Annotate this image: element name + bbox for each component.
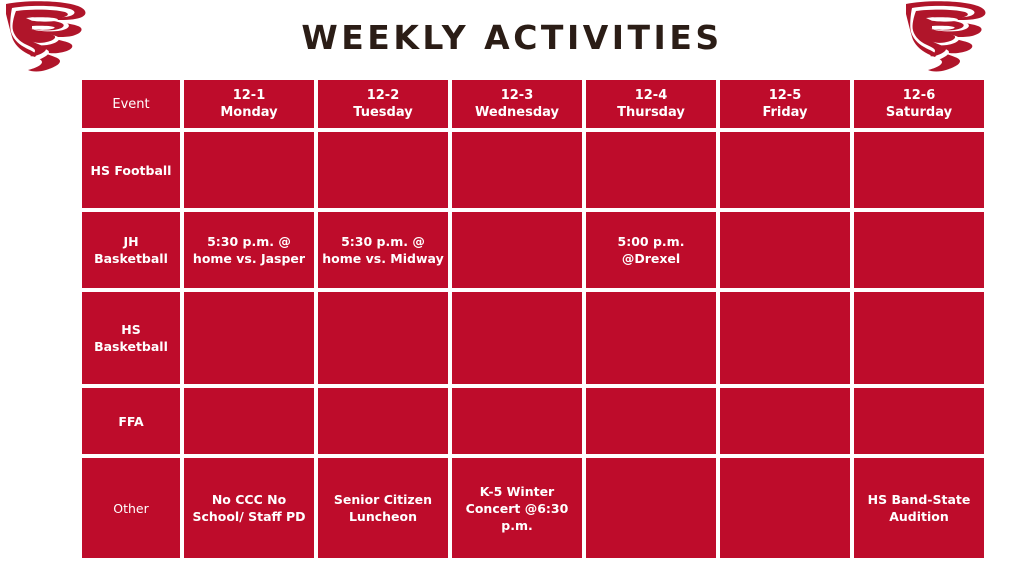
cell-hs-basketball-monday xyxy=(184,292,314,384)
cell-hs-football-tuesday xyxy=(318,132,448,208)
cell-jh-basketball-friday xyxy=(720,212,850,288)
cell-hs-basketball-tuesday xyxy=(318,292,448,384)
cell-hs-basketball-wednesday xyxy=(452,292,582,384)
page-header: WEEKLY ACTIVITIES xyxy=(0,0,1024,74)
cell-other-wednesday: K-5 Winter Concert @6:30 p.m. xyxy=(452,458,582,558)
column-header-saturday-date: 12-6 xyxy=(858,87,980,104)
cell-other-friday xyxy=(720,458,850,558)
column-header-saturday-day: Saturday xyxy=(858,104,980,121)
row-label-hs-basketball: HS Basketball xyxy=(82,292,180,384)
row-label-hs-football: HS Football xyxy=(82,132,180,208)
tornado-mascot-logo xyxy=(900,0,992,74)
column-header-friday-day: Friday xyxy=(724,104,846,121)
cell-jh-basketball-wednesday xyxy=(452,212,582,288)
cell-hs-football-monday xyxy=(184,132,314,208)
column-header-saturday: 12-6 Saturday xyxy=(854,80,984,128)
column-header-thursday-day: Thursday xyxy=(590,104,712,121)
table-row: FFA xyxy=(82,388,984,454)
column-header-event-label: Event xyxy=(112,97,149,112)
weekly-activities-table: Event 12-1 Monday 12-2 Tuesday 12-3 Wedn… xyxy=(78,76,988,562)
column-header-wednesday-day: Wednesday xyxy=(456,104,578,121)
cell-other-tuesday: Senior Citizen Luncheon xyxy=(318,458,448,558)
column-header-friday-date: 12-5 xyxy=(724,87,846,104)
column-header-tuesday: 12-2 Tuesday xyxy=(318,80,448,128)
cell-hs-football-thursday xyxy=(586,132,716,208)
column-header-wednesday: 12-3 Wednesday xyxy=(452,80,582,128)
column-header-friday: 12-5 Friday xyxy=(720,80,850,128)
column-header-tuesday-date: 12-2 xyxy=(322,87,444,104)
column-header-monday-date: 12-1 xyxy=(188,87,310,104)
cell-ffa-monday xyxy=(184,388,314,454)
page-title: WEEKLY ACTIVITIES xyxy=(0,18,1024,58)
column-header-wednesday-date: 12-3 xyxy=(456,87,578,104)
cell-ffa-saturday xyxy=(854,388,984,454)
cell-other-saturday: HS Band-State Audition xyxy=(854,458,984,558)
cell-other-thursday xyxy=(586,458,716,558)
cell-jh-basketball-monday: 5:30 p.m. @ home vs. Jasper xyxy=(184,212,314,288)
table-row: HS Football xyxy=(82,132,984,208)
row-label-other: Other xyxy=(82,458,180,558)
column-header-monday: 12-1 Monday xyxy=(184,80,314,128)
cell-ffa-thursday xyxy=(586,388,716,454)
table-row: JH Basketball 5:30 p.m. @ home vs. Jaspe… xyxy=(82,212,984,288)
row-label-ffa: FFA xyxy=(82,388,180,454)
cell-jh-basketball-thursday: 5:00 p.m. @Drexel xyxy=(586,212,716,288)
table-header-row: Event 12-1 Monday 12-2 Tuesday 12-3 Wedn… xyxy=(82,80,984,128)
column-header-thursday-date: 12-4 xyxy=(590,87,712,104)
cell-hs-football-saturday xyxy=(854,132,984,208)
cell-other-monday: No CCC No School/ Staff PD xyxy=(184,458,314,558)
cell-jh-basketball-tuesday: 5:30 p.m. @ home vs. Midway xyxy=(318,212,448,288)
cell-jh-basketball-saturday xyxy=(854,212,984,288)
cell-ffa-friday xyxy=(720,388,850,454)
row-label-jh-basketball: JH Basketball xyxy=(82,212,180,288)
cell-hs-basketball-friday xyxy=(720,292,850,384)
cell-hs-football-wednesday xyxy=(452,132,582,208)
cell-ffa-tuesday xyxy=(318,388,448,454)
cell-hs-basketball-saturday xyxy=(854,292,984,384)
cell-hs-basketball-thursday xyxy=(586,292,716,384)
column-header-monday-day: Monday xyxy=(188,104,310,121)
column-header-tuesday-day: Tuesday xyxy=(322,104,444,121)
cell-ffa-wednesday xyxy=(452,388,582,454)
cell-hs-football-friday xyxy=(720,132,850,208)
column-header-thursday: 12-4 Thursday xyxy=(586,80,716,128)
column-header-event: Event xyxy=(82,80,180,128)
table-row: HS Basketball xyxy=(82,292,984,384)
table-row: Other No CCC No School/ Staff PD Senior … xyxy=(82,458,984,558)
